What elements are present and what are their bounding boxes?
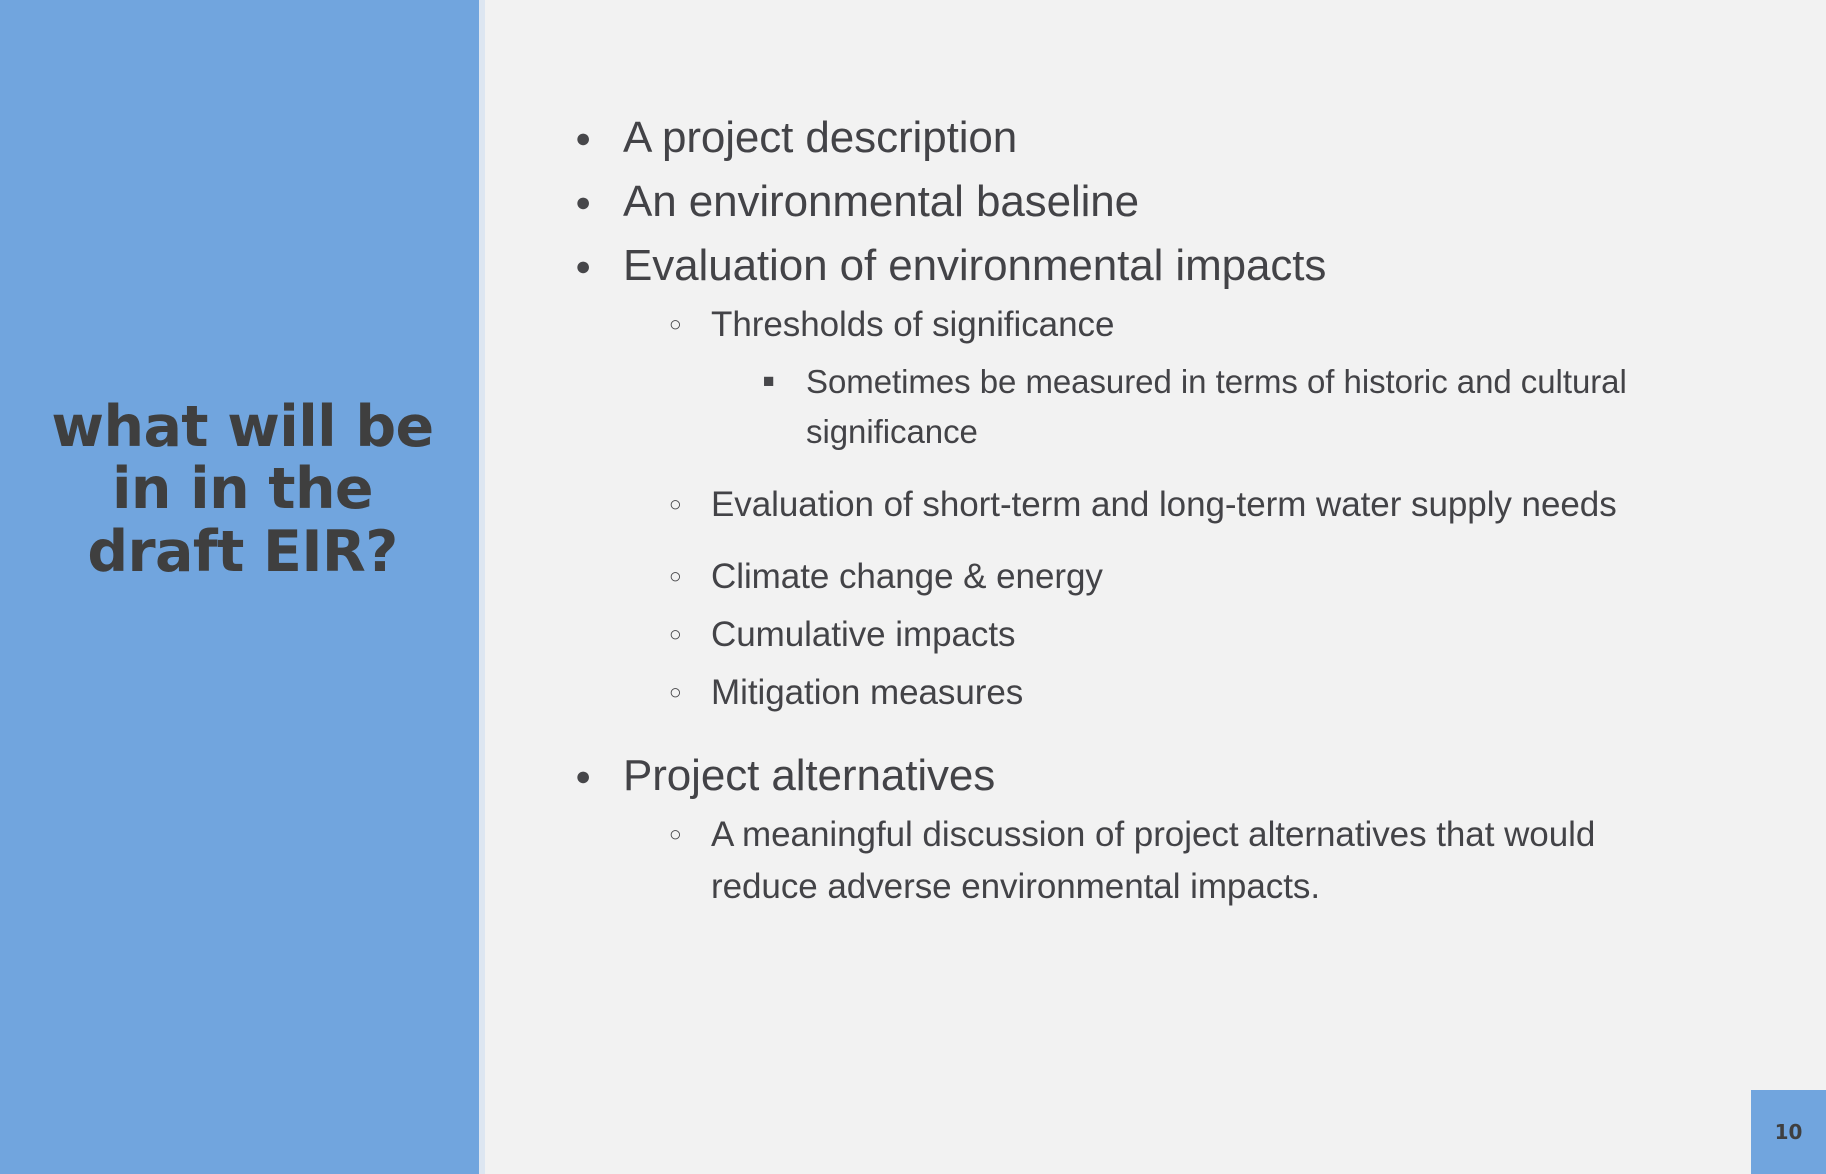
list-item: ● Evaluation of environmental impacts <box>575 235 1715 297</box>
list-item-label: An environmental baseline <box>623 171 1139 233</box>
list-item: ● A project description <box>575 107 1715 169</box>
list-item-label: Mitigation measures <box>711 667 1023 719</box>
bullet-disc-icon: ● <box>575 171 623 233</box>
bullet-circle-icon: ○ <box>669 609 711 661</box>
list-item-label: Climate change & energy <box>711 551 1103 603</box>
bullet-circle-icon: ○ <box>669 667 711 719</box>
bullet-disc-icon: ● <box>575 235 623 297</box>
spacer <box>575 537 1715 551</box>
spacer <box>575 725 1715 745</box>
list-item-label: Sometimes be measured in terms of histor… <box>806 357 1686 457</box>
list-item: ○ Thresholds of significance <box>669 299 1715 351</box>
list-item: ○ Climate change & energy <box>669 551 1715 603</box>
list-item: ● An environmental baseline <box>575 171 1715 233</box>
list-item-label: Project alternatives <box>623 745 995 807</box>
title-panel: what will be in in the draft EIR? <box>0 0 485 1174</box>
bullet-circle-icon: ○ <box>669 479 711 531</box>
bullet-square-icon: ■ <box>763 357 806 407</box>
page-title: what will be in in the draft EIR? <box>28 396 458 582</box>
list-item: ■ Sometimes be measured in terms of hist… <box>763 357 1715 457</box>
page-number-badge: 10 <box>1751 1090 1826 1174</box>
list-item-label: A project description <box>623 107 1017 169</box>
list-item-label: Evaluation of short-term and long-term w… <box>711 479 1617 531</box>
list-item-label: A meaningful discussion of project alter… <box>711 809 1711 913</box>
list-item: ● Project alternatives <box>575 745 1715 807</box>
list-item-label: Thresholds of significance <box>711 299 1114 351</box>
bullet-disc-icon: ● <box>575 107 623 169</box>
bullet-disc-icon: ● <box>575 745 623 807</box>
list-item-label: Evaluation of environmental impacts <box>623 235 1326 297</box>
content-panel: ● A project description ● An environment… <box>485 0 1826 1174</box>
slide: what will be in in the draft EIR? ● A pr… <box>0 0 1826 1174</box>
bullet-circle-icon: ○ <box>669 809 711 861</box>
list-item: ○ Evaluation of short-term and long-term… <box>669 479 1715 531</box>
list-item: ○ Cumulative impacts <box>669 609 1715 661</box>
bullet-circle-icon: ○ <box>669 551 711 603</box>
spacer <box>575 465 1715 479</box>
bullet-list: ● A project description ● An environment… <box>575 107 1715 919</box>
bullet-circle-icon: ○ <box>669 299 711 351</box>
list-item-label: Cumulative impacts <box>711 609 1015 661</box>
list-item: ○ Mitigation measures <box>669 667 1715 719</box>
list-item: ○ A meaningful discussion of project alt… <box>669 809 1715 913</box>
